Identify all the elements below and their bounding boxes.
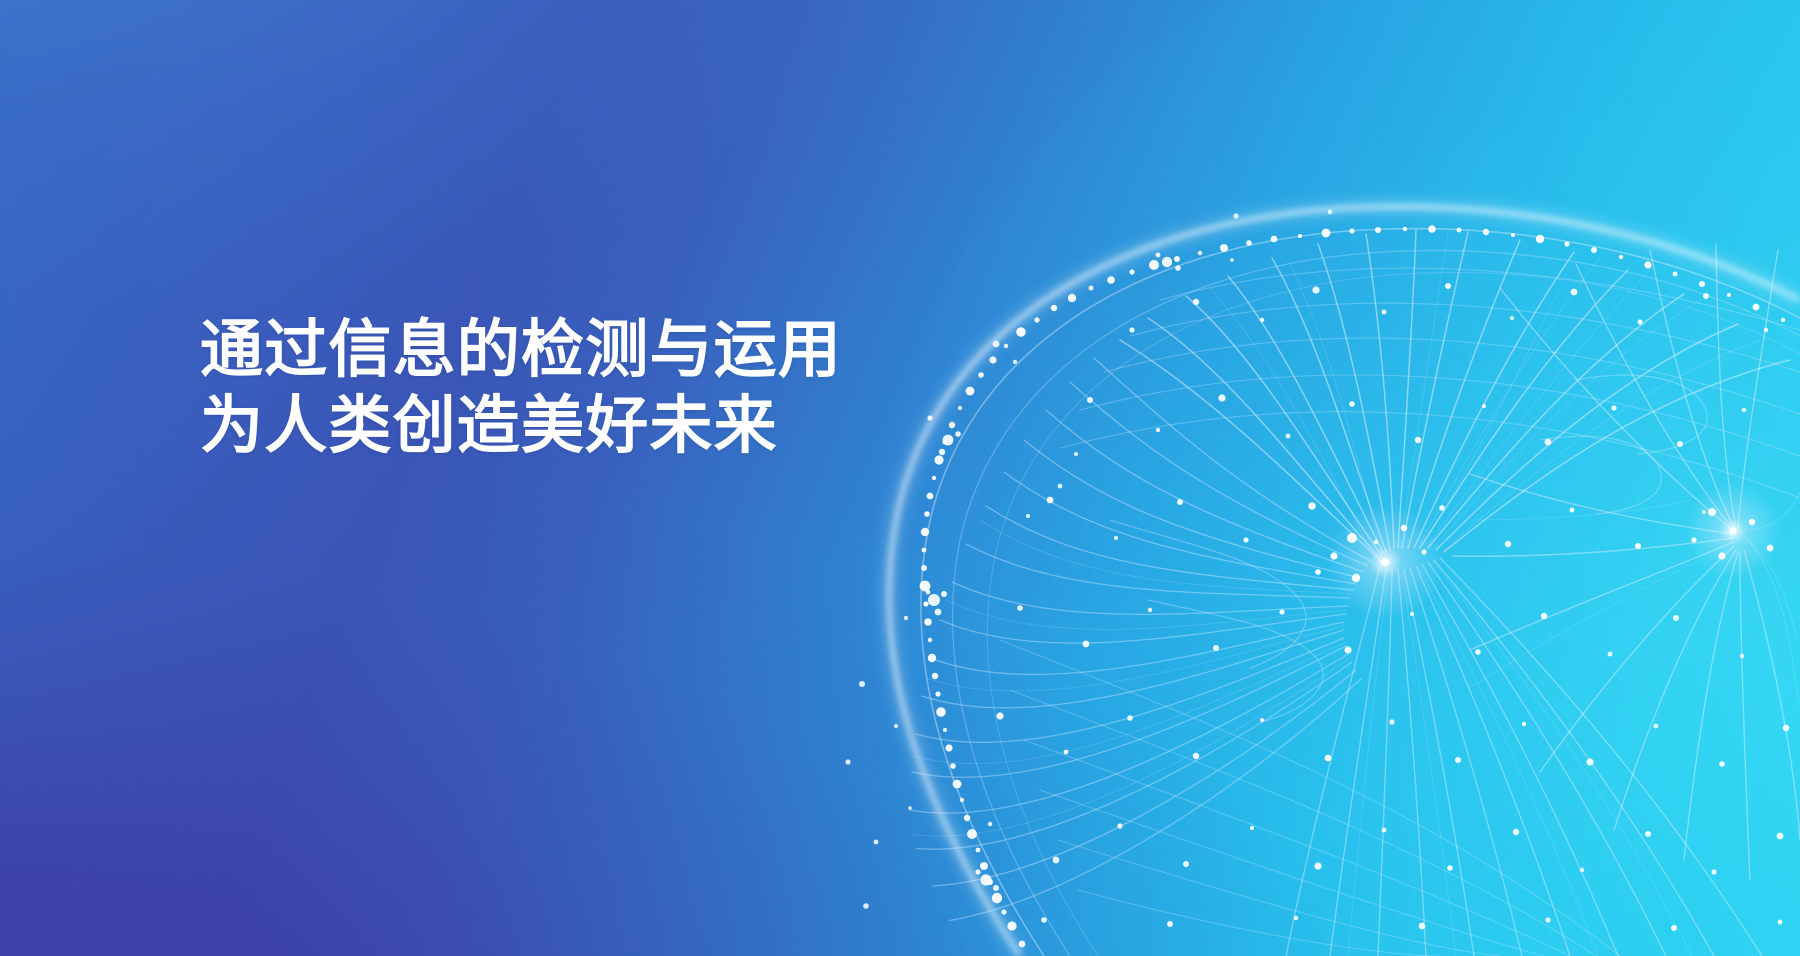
headline-line-2: 为人类创造美好未来 [200, 388, 842, 464]
hero-headline: 通过信息的检测与运用 为人类创造美好未来 [200, 312, 842, 464]
headline-line-1: 通过信息的检测与运用 [200, 312, 842, 388]
particle-globe-graphic [0, 0, 1800, 956]
hero-banner: 通过信息的检测与运用 为人类创造美好未来 [0, 0, 1800, 956]
globe-inner-glow [870, 0, 1800, 956]
